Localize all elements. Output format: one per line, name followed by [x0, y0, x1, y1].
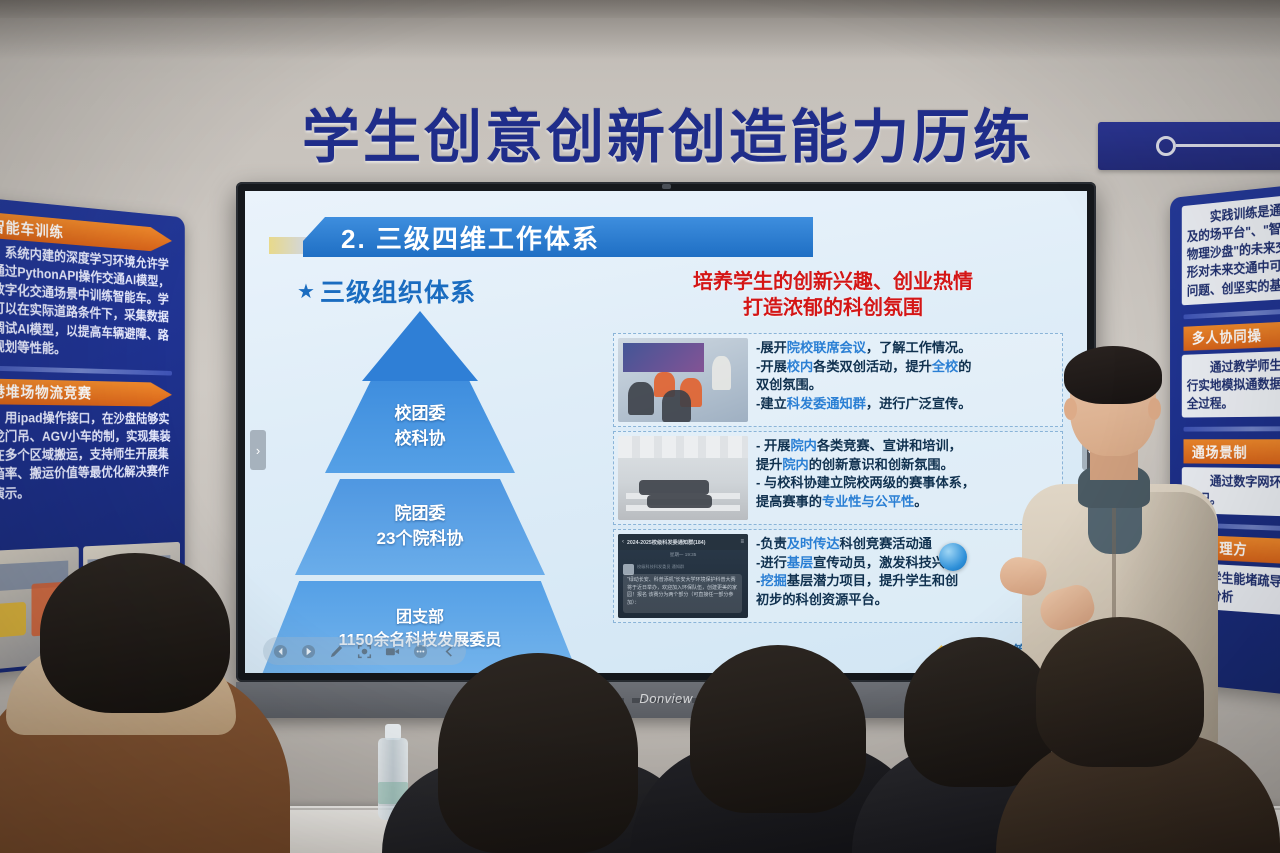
classroom-presentation-scene: 学生创意创新创造能力历练 智能车训练 系统内建的深度学习环境允许学生通过Pyth… — [0, 0, 1280, 853]
row-text-line: - 与校科协建立院校两级的赛事体系， — [756, 474, 1056, 493]
audience-member-head — [904, 637, 1054, 787]
highlighted-term: 专业性与公平性 — [822, 494, 914, 509]
annotation-dot — [939, 543, 967, 571]
board-divider — [0, 365, 172, 375]
three-level-pyramid-diagram: 校团委 校科协 院团委 23个院科协 团支部 1150余名科技发展委员 — [255, 311, 585, 641]
left-panel-body-0: 系统内建的深度学习环境允许学生通过PythonAPI操作交通AI模型，在数字化交… — [0, 241, 174, 362]
text-run: -建立 — [756, 396, 787, 411]
star-icon: ★ — [297, 279, 316, 304]
line-decoration — [1176, 144, 1280, 147]
row-3-wechat-screenshot: ‹ 2024-2025校级科发委通知群(184) ≡ 星期一 19:35 校级科… — [618, 534, 748, 618]
text-run: 各类竞赛、宣讲和培训， — [817, 438, 962, 453]
pyramid-tier-2-line-2: 23个院科协 — [377, 527, 464, 552]
board-divider — [1183, 307, 1280, 319]
text-run: 双创氛围。 — [756, 377, 822, 392]
audience-member-head — [40, 553, 230, 713]
presenter-ear — [1148, 398, 1161, 420]
text-run: ，进行广泛宣传。 — [866, 396, 972, 411]
text-run: 宣传动员，激发科技兴趣 — [813, 555, 958, 570]
left-panel-body-1: 用ipad操作接口，在沙盘陆够实现龙门吊、AGV小车的制，实现集装箱在多个区域搬… — [0, 408, 174, 503]
right-panel-header-1: 多人协同操 — [1183, 320, 1280, 351]
play-icon[interactable] — [301, 644, 316, 659]
content-row-3: ‹ 2024-2025校级科发委通知群(184) ≡ 星期一 19:35 校级科… — [613, 529, 1063, 623]
slide-title: 2. 三级四维工作体系 — [303, 217, 813, 257]
wechat-message: "绿动长安、科普添机"长安大学环境保护科普大赛 将于近日举办，欢迎加入环保队伍，… — [623, 574, 742, 613]
wechat-titlebar: ‹ 2024-2025校级科发委通知群(184) ≡ — [618, 534, 748, 550]
content-row-2: - 开展院内各类竞赛、宣讲和培训，提升院内的创新意识和创新氛围。 - 与校科协建… — [613, 431, 1063, 525]
presentation-slide: 2. 三级四维工作体系 ★ 三级组织体系 校团委 校科协 院团委 23个院科协 — [245, 191, 1087, 673]
audience-member-head — [1036, 617, 1204, 767]
text-run: 的 — [958, 359, 971, 374]
display-notch — [662, 184, 671, 189]
highlighted-term: 院校联席会议 — [787, 340, 866, 355]
text-run: - 开展 — [756, 438, 790, 453]
highlighted-term: 科发委通知群 — [787, 396, 866, 411]
red-headline-line-2: 打造浓郁的科创氛围 — [613, 295, 1053, 321]
pyramid-tier-1-line-2: 校科协 — [395, 427, 446, 452]
row-text-line: -展开院校联席会议，了解工作情况。 — [756, 339, 1056, 358]
wall-decoration-bar — [1098, 122, 1280, 170]
text-run: 各类双创活动，提升 — [813, 359, 932, 374]
row-text-line: -开展校内各类双创活动，提升全校的 — [756, 358, 1056, 377]
slide-section-heading: ★ 三级组织体系 — [297, 273, 476, 309]
camera-icon[interactable] — [385, 644, 400, 659]
highlighted-term: 院内 — [782, 457, 808, 472]
row-text-line: 双创氛围。 — [756, 376, 1056, 395]
ceiling-shadow — [0, 0, 1280, 60]
pyramid-apex — [362, 311, 478, 381]
pyramid-tier-1-line-1: 校团委 — [395, 402, 446, 427]
row-1-photo — [618, 338, 748, 422]
row-2-photo — [618, 436, 748, 520]
text-run: 提高赛事的 — [756, 494, 822, 509]
display-brand-label: Donview — [639, 691, 692, 706]
wechat-sender-name: 校级科技科发委员 通知群 — [637, 564, 684, 570]
row-text-line: 提高赛事的专业性与公平性。 — [756, 493, 1056, 512]
text-run: 基层潜力项目，提升学生和创 — [787, 573, 958, 588]
pyramid-tier-3-line-1: 团支部 — [396, 606, 444, 629]
presenter-hair — [1064, 346, 1162, 404]
text-run: -开展 — [756, 359, 787, 374]
text-run: -进行 — [756, 555, 787, 570]
audience-member-head — [690, 645, 866, 813]
back-chevron-icon: ‹ — [622, 539, 624, 545]
highlighted-term: 挖掘 — [760, 573, 786, 588]
audience-member-head — [438, 653, 638, 853]
highlighted-term: 基层 — [787, 555, 813, 570]
row-text-line: -建立科发委通知群，进行广泛宣传。 — [756, 395, 1056, 414]
row-text-line: 提升院内的创新意识和创新氛围。 — [756, 456, 1056, 475]
pen-icon[interactable] — [329, 644, 344, 659]
screen-left-arrow-button[interactable]: › — [250, 430, 266, 470]
row-text-line: - 开展院内各类竞赛、宣讲和培训， — [756, 437, 1056, 456]
display-screen[interactable]: 2. 三级四维工作体系 ★ 三级组织体系 校团委 校科协 院团委 23个院科协 — [245, 191, 1087, 673]
section-heading-label: 三级组织体系 — [320, 273, 476, 309]
wall-banner-title: 学生创意创新创造能力历练 — [248, 96, 1088, 168]
text-run: -负责 — [756, 536, 787, 551]
row-text-line: 初步的科创资源平台。 — [756, 591, 1056, 610]
wechat-timestamp: 星期一 19:35 — [618, 552, 748, 558]
right-panel-body-0: 实践训练是通学科涉及的场平台"、"智能推演物理沙盘"的未来交通新形对未来交通中可… — [1182, 191, 1280, 305]
interactive-flat-panel[interactable]: 2. 三级四维工作体系 ★ 三级组织体系 校团委 校科协 院团委 23个院科协 — [236, 182, 1096, 682]
slide-red-headline: 培养学生的创新兴趣、创业热情 打造浓郁的科创氛围 — [613, 269, 1053, 321]
circle-icon — [1156, 136, 1176, 156]
screenshot-icon[interactable] — [357, 644, 372, 659]
highlighted-term: 校内 — [787, 359, 813, 374]
text-run: 的创新意识和创新氛围。 — [809, 457, 954, 472]
highlighted-term: 全校 — [932, 359, 958, 374]
left-panel-header-1: 港堆场物流竞赛 — [0, 378, 172, 406]
text-run: 。 — [914, 494, 927, 509]
highlighted-term: 院内 — [790, 438, 816, 453]
text-run: 科创竞赛活动通 — [840, 536, 932, 551]
back-icon[interactable] — [273, 644, 288, 659]
pyramid-tier-1: 校团委 校科协 — [325, 381, 515, 473]
content-row-1: -展开院校联席会议，了解工作情况。-开展校内各类双创活动，提升全校的双创氛围。-… — [613, 333, 1063, 427]
text-run: -展开 — [756, 340, 787, 355]
collapse-icon[interactable] — [441, 644, 456, 659]
red-headline-line-1: 培养学生的创新兴趣、创业热情 — [613, 269, 1053, 295]
slide-media-toolbar[interactable] — [263, 637, 466, 665]
pyramid-tier-2-line-1: 院团委 — [395, 502, 446, 527]
text-run: - 与校科协建立院校两级的赛事体系， — [756, 475, 975, 490]
text-run: 初步的科创资源平台。 — [756, 592, 888, 607]
pyramid-tier-2: 院团委 23个院科协 — [295, 479, 545, 575]
row-text-line: -负责及时传达科创竞赛活动通 — [756, 535, 1056, 554]
presenter-ear — [1064, 398, 1077, 420]
more-icon[interactable] — [413, 644, 428, 659]
menu-icon: ≡ — [740, 539, 744, 545]
highlighted-term: 及时传达 — [787, 536, 840, 551]
text-run: 提升 — [756, 457, 782, 472]
text-run: ，了解工作情况。 — [866, 340, 972, 355]
wechat-group-title: 2024-2025校级科发委通知群(184) — [627, 539, 705, 546]
